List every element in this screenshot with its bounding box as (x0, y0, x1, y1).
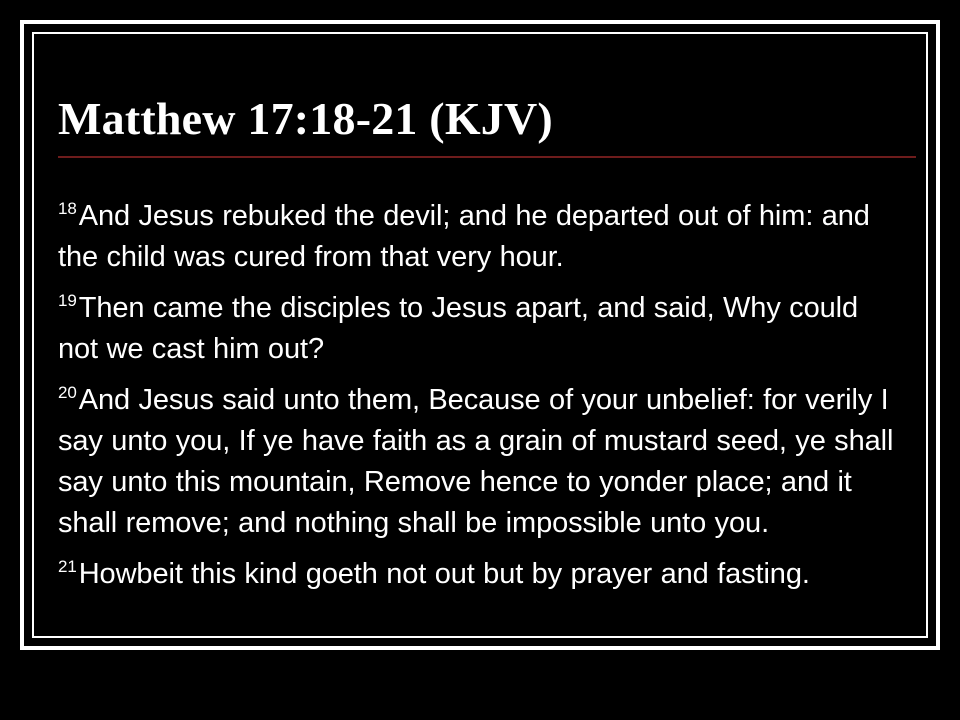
verse-text: Howbeit this kind goeth not out but by p… (79, 558, 810, 590)
verse-body: 18And Jesus rebuked the devil; and he de… (58, 196, 904, 595)
verse-paragraph: 20And Jesus said unto them, Because of y… (58, 380, 904, 544)
presentation-slide: Matthew 17:18-21 (KJV) 18And Jesus rebuk… (0, 0, 960, 720)
verse-number: 20 (58, 383, 79, 402)
verse-number: 19 (58, 291, 79, 310)
verse-text: And Jesus rebuked the devil; and he depa… (58, 200, 870, 273)
verse-paragraph: 18And Jesus rebuked the devil; and he de… (58, 196, 904, 278)
title-block: Matthew 17:18-21 (KJV) (58, 92, 916, 158)
verse-number: 18 (58, 199, 79, 218)
verse-number: 21 (58, 557, 79, 576)
title-divider-rule (58, 156, 916, 158)
verse-text: Then came the disciples to Jesus apart, … (58, 292, 858, 365)
page-title: Matthew 17:18-21 (KJV) (58, 92, 916, 146)
verse-text: And Jesus said unto them, Because of you… (58, 384, 893, 539)
verse-paragraph: 21Howbeit this kind goeth not out but by… (58, 554, 904, 595)
verse-paragraph: 19Then came the disciples to Jesus apart… (58, 288, 904, 370)
